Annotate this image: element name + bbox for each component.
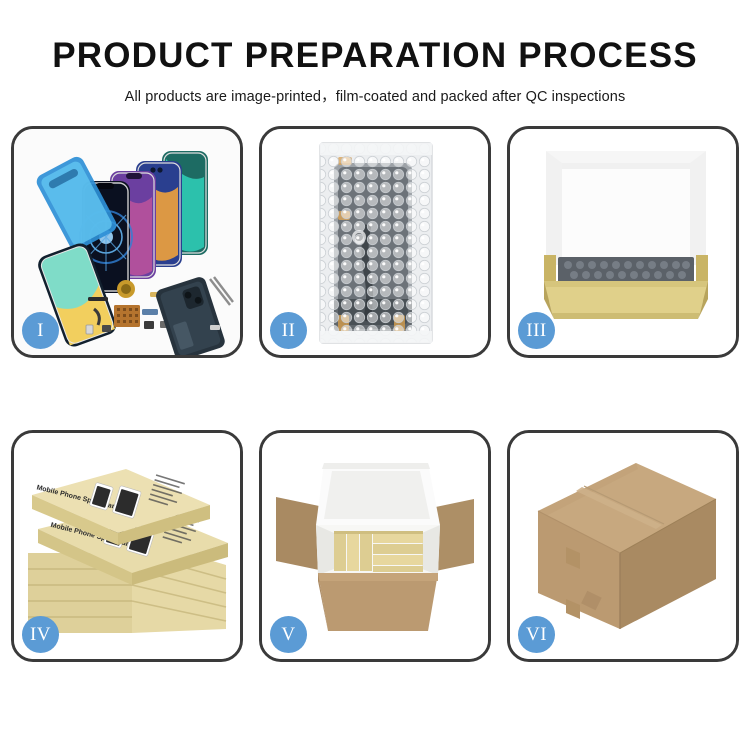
process-grid: I	[10, 126, 740, 662]
step-badge-1: I	[22, 312, 59, 349]
process-step-2: II	[259, 126, 491, 358]
process-step-3: III	[507, 126, 739, 358]
page-title: PRODUCT PREPARATION PROCESS	[0, 38, 750, 75]
step-badge-4: IV	[22, 616, 59, 653]
page-subtitle: All products are image-printed，film-coat…	[0, 85, 750, 106]
step-badge-3: III	[518, 312, 555, 349]
process-step-5: V	[259, 430, 491, 662]
step-badge-5: V	[270, 616, 307, 653]
page-header: PRODUCT PREPARATION PROCESS All products…	[0, 0, 750, 106]
step-badge-6: VI	[518, 616, 555, 653]
process-step-4: Mobile Phone Spare Parts	[11, 430, 243, 662]
process-step-6: VI	[507, 430, 739, 662]
step-badge-2: II	[270, 312, 307, 349]
process-step-1: I	[11, 126, 243, 358]
